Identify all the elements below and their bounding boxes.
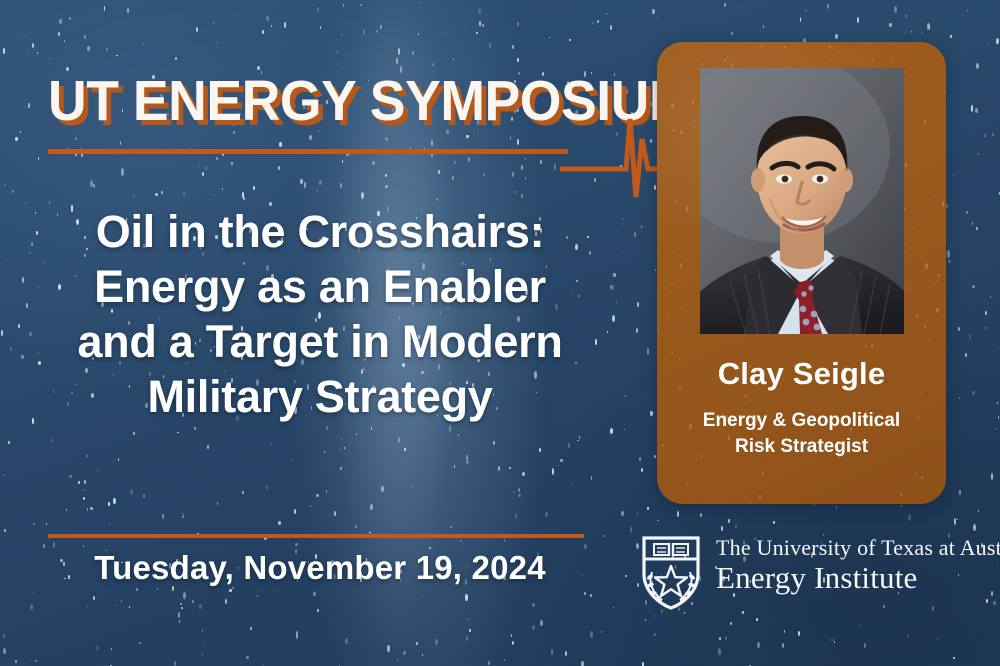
- institute-logo-line2: Energy Institute: [716, 561, 1000, 594]
- event-date: Tuesday, November 19, 2024: [40, 549, 600, 587]
- talk-title-line: Energy as an Enabler: [40, 260, 600, 315]
- institute-logo: The University of Texas at Austin Energy…: [640, 534, 990, 616]
- date-accent-rule: [48, 534, 584, 538]
- speaker-headshot-photo: [700, 68, 904, 334]
- symposium-brand-lockup: UT ENERGY SYMPOSIUM: [48, 73, 608, 173]
- headshot-illustration: [700, 68, 904, 334]
- speaker-role: Energy & Geopolitical Risk Strategist: [657, 408, 946, 459]
- talk-title-line: Oil in the Crosshairs:: [40, 205, 600, 260]
- speaker-role-line: Risk Strategist: [657, 434, 946, 460]
- brand-accent-rule: [48, 149, 568, 154]
- speaker-name: Clay Seigle: [657, 356, 946, 392]
- institute-logo-text: The University of Texas at Austin Energy…: [716, 536, 1000, 595]
- talk-title-line: and a Target in Modern: [40, 315, 600, 370]
- talk-title-line: Military Strategy: [40, 370, 600, 425]
- speaker-card: Clay Seigle Energy & Geopolitical Risk S…: [657, 42, 946, 504]
- symposium-wordmark: UT ENERGY SYMPOSIUM: [48, 73, 574, 130]
- event-poster: UT ENERGY SYMPOSIUM Oil in the Crosshair…: [0, 0, 1000, 666]
- institute-logo-line1: The University of Texas at Austin: [716, 536, 1000, 559]
- talk-title: Oil in the Crosshairs: Energy as an Enab…: [40, 205, 600, 425]
- ut-shield-icon: [640, 534, 702, 612]
- speaker-role-line: Energy & Geopolitical: [657, 408, 946, 434]
- poster-left-column: UT ENERGY SYMPOSIUM Oil in the Crosshair…: [0, 0, 640, 666]
